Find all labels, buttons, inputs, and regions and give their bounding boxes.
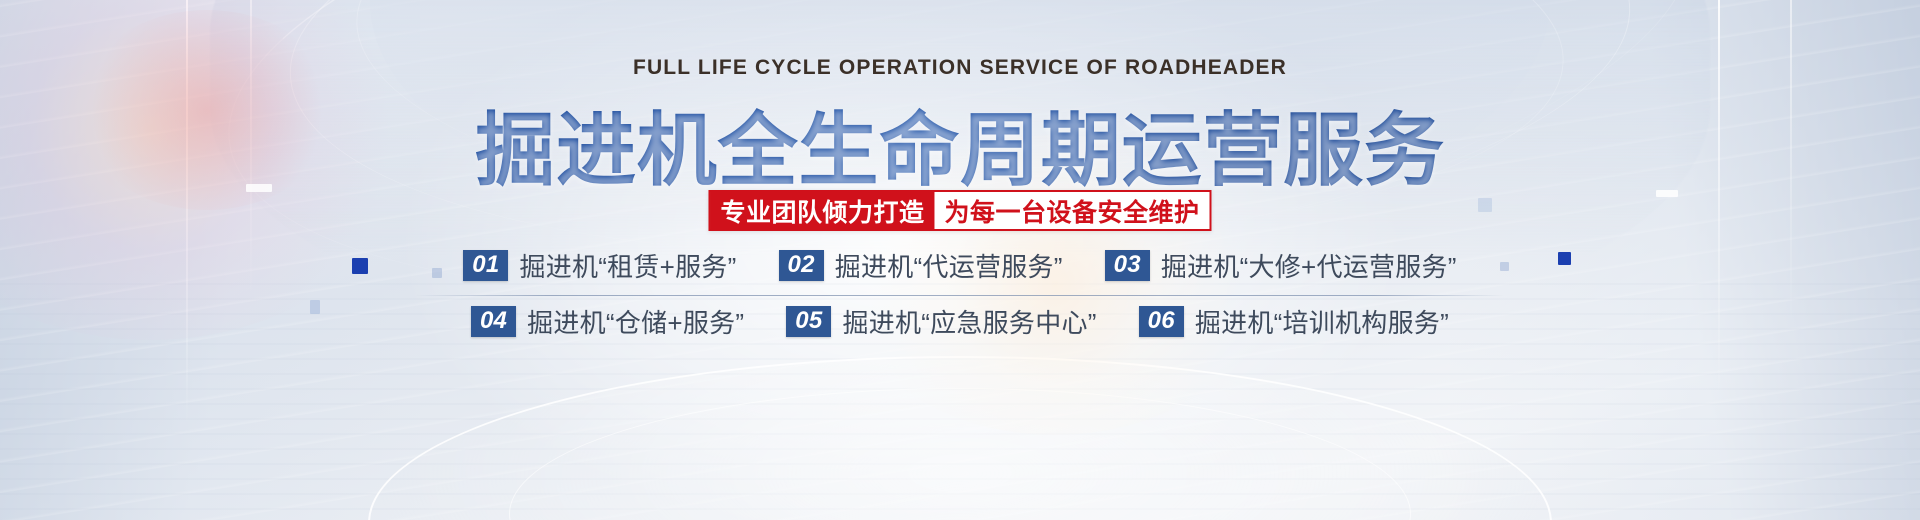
service-label: 掘进机“仓储+服务” [527, 303, 744, 340]
service-number-badge: 06 [1139, 306, 1184, 337]
banner-content: FULL LIFE CYCLE OPERATION SERVICE OF ROA… [0, 0, 1920, 520]
service-item-06[interactable]: 06 掘进机“培训机构服务” [1139, 303, 1449, 340]
service-item-05[interactable]: 05 掘进机“应急服务中心” [786, 303, 1096, 340]
service-number-badge: 05 [786, 306, 831, 337]
english-subtitle: FULL LIFE CYCLE OPERATION SERVICE OF ROA… [0, 56, 1920, 80]
service-item-03[interactable]: 03 掘进机“大修+代运营服务” [1105, 247, 1457, 284]
roadheader-service-banner: FULL LIFE CYCLE OPERATION SERVICE OF ROA… [0, 0, 1920, 520]
service-label: 掘进机“代运营服务” [835, 247, 1063, 284]
service-row-divider [415, 295, 1505, 296]
service-label: 掘进机“租赁+服务” [519, 247, 736, 284]
service-label: 掘进机“大修+代运营服务” [1161, 247, 1457, 284]
service-label: 掘进机“应急服务中心” [842, 303, 1096, 340]
service-item-01[interactable]: 01 掘进机“租赁+服务” [463, 247, 736, 284]
service-number-badge: 02 [779, 250, 824, 281]
service-item-02[interactable]: 02 掘进机“代运营服务” [779, 247, 1063, 284]
service-number-badge: 04 [471, 306, 516, 337]
slogan-ribbon: 专业团队倾力打造 为每一台设备安全维护 [708, 190, 1211, 231]
service-item-04[interactable]: 04 掘进机“仓储+服务” [471, 303, 744, 340]
slogan-right: 为每一台设备安全维护 [935, 192, 1210, 229]
main-headline: 掘进机全生命周期运营服务 [0, 86, 1920, 202]
service-label: 掘进机“培训机构服务” [1195, 303, 1449, 340]
service-list-row-2: 04 掘进机“仓储+服务” 05 掘进机“应急服务中心” 06 掘进机“培训机构… [390, 303, 1530, 340]
service-list-row-1: 01 掘进机“租赁+服务” 02 掘进机“代运营服务” 03 掘进机“大修+代运… [390, 247, 1530, 284]
service-number-badge: 01 [463, 250, 508, 281]
service-number-badge: 03 [1105, 250, 1150, 281]
slogan-left: 专业团队倾力打造 [710, 192, 934, 229]
